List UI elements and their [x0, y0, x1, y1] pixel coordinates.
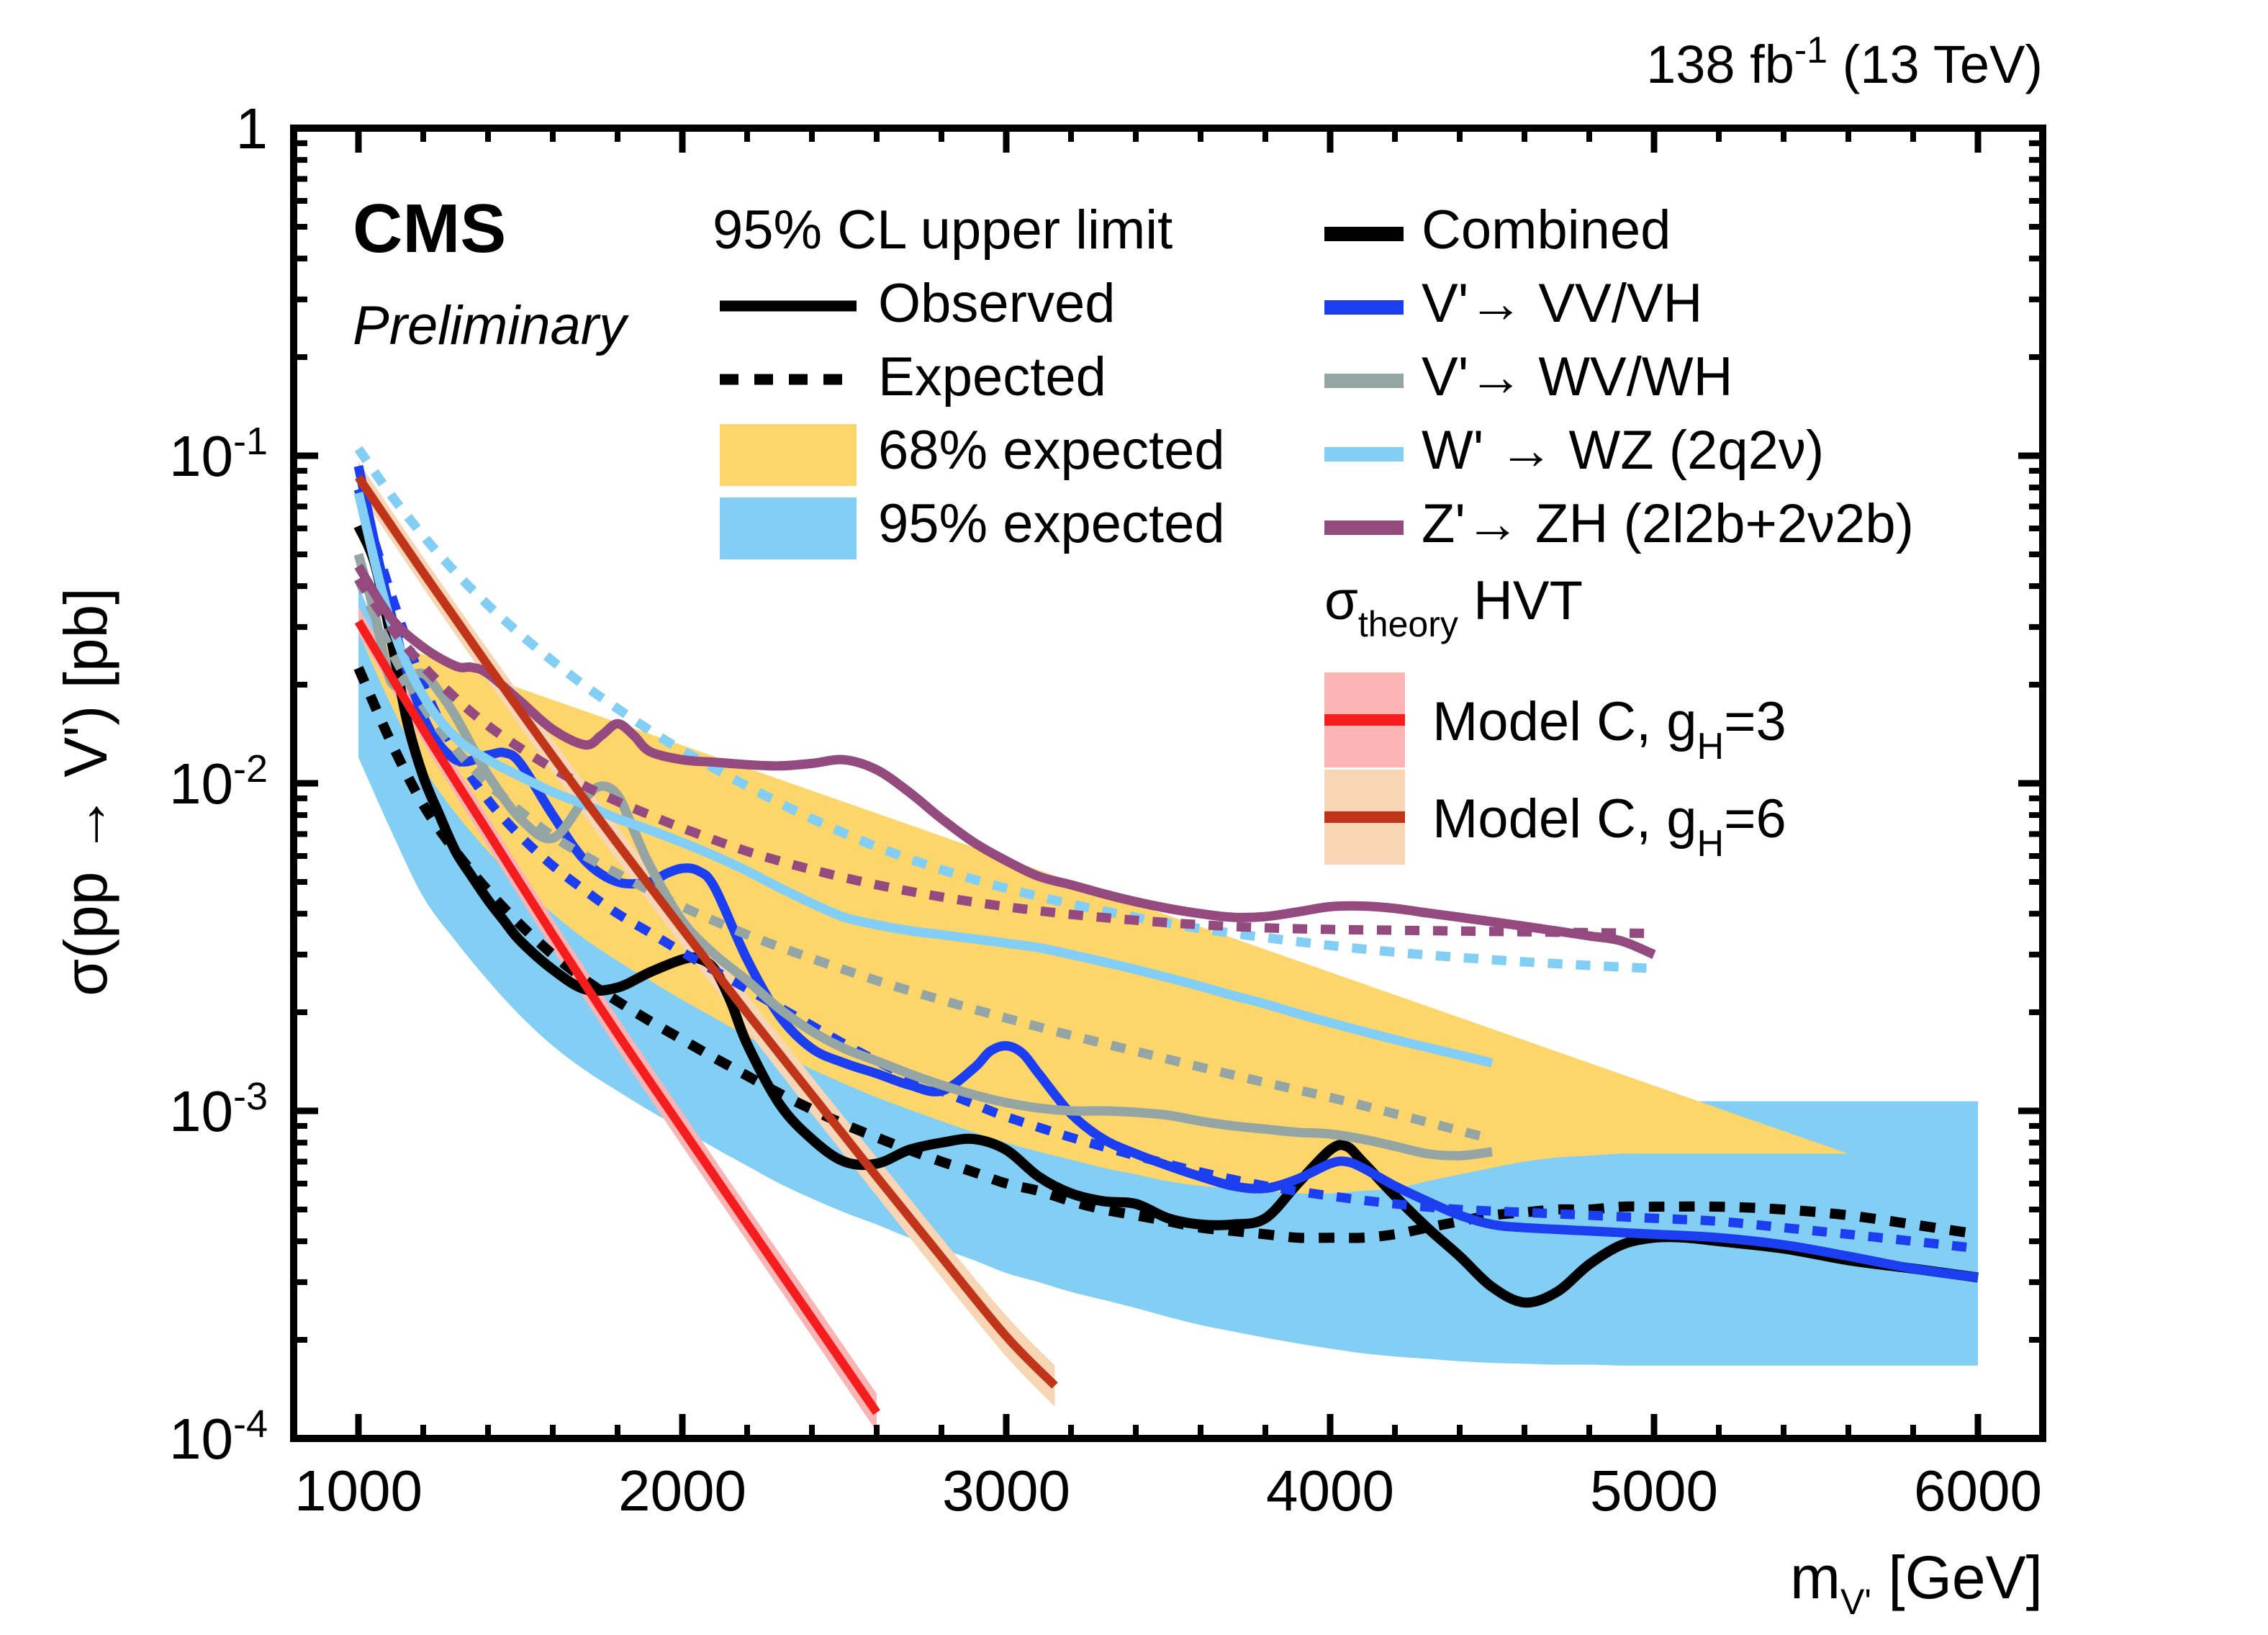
legend-label: W' → WZ (2q2ν)	[1422, 420, 1824, 481]
luminosity-label: 138 fb-1 (13 TeV)	[1646, 30, 2043, 94]
chart-root: 138 fb-1 (13 TeV) 1000200030004000500060…	[0, 0, 2268, 1635]
legend-label: Z'→ ZH (2l2b+2ν2b)	[1422, 493, 1914, 554]
legend-label: Observed	[878, 273, 1116, 334]
x-axis-title: mV' [GeV]	[1790, 1544, 2043, 1622]
limit-plot: 138 fb-1 (13 TeV) 1000200030004000500060…	[0, 0, 2268, 1635]
legend-label: V'→ VV/VH	[1422, 273, 1702, 334]
x-tick-label: 1000	[294, 1459, 423, 1523]
x-tick-label: 5000	[1590, 1459, 1718, 1523]
legend-label: Expected	[878, 346, 1106, 407]
legend-item-95-expected[interactable]: 95% expected	[720, 493, 1225, 559]
legend-title: 95% CL upper limit	[713, 199, 1173, 261]
svg-text:mV' [GeV]: mV' [GeV]	[1790, 1544, 2043, 1622]
cms-label: CMS	[353, 190, 506, 267]
legend-label: V'→ WV/WH	[1422, 346, 1732, 407]
x-tick-label: 3000	[942, 1459, 1070, 1523]
legend-label: 68% expected	[878, 420, 1225, 481]
svg-text:σ(pp → V') [pb]: σ(pp → V') [pb]	[52, 587, 119, 996]
x-tick-label: 2000	[618, 1459, 746, 1523]
x-tick-label: 4000	[1266, 1459, 1394, 1523]
legend-swatch	[720, 497, 857, 559]
y-axis-title: σ(pp → V') [pb]	[52, 587, 119, 996]
x-tick-label: 6000	[1914, 1459, 2042, 1523]
legend-label: Combined	[1422, 199, 1671, 261]
legend-label: 95% expected	[878, 493, 1225, 554]
legend-item-68-expected[interactable]: 68% expected	[720, 420, 1225, 486]
y-tick-label: 1	[236, 96, 268, 161]
legend-swatch	[720, 424, 857, 486]
preliminary-label: Preliminary	[353, 295, 629, 356]
